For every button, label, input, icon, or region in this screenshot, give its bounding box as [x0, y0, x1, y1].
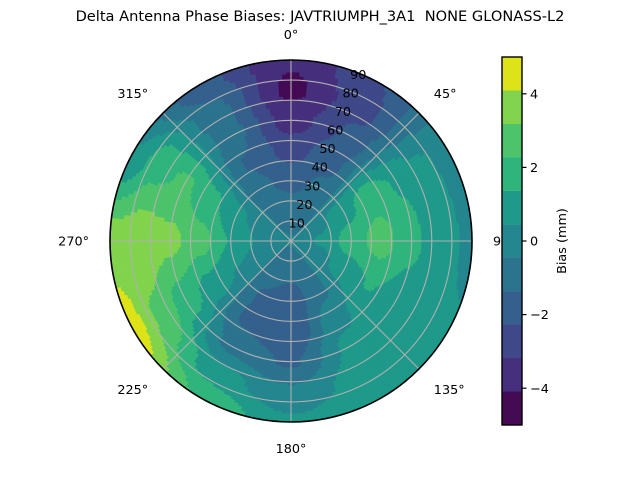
page-title: Delta Antenna Phase Biases: JAVTRIUMPH_3…	[0, 8, 640, 25]
figure-canvas: Delta Antenna Phase Biases: JAVTRIUMPH_3…	[0, 0, 640, 480]
polar-contour-plot: 0°45°90135°180°225°270°315° 102030405060…	[0, 0, 640, 480]
